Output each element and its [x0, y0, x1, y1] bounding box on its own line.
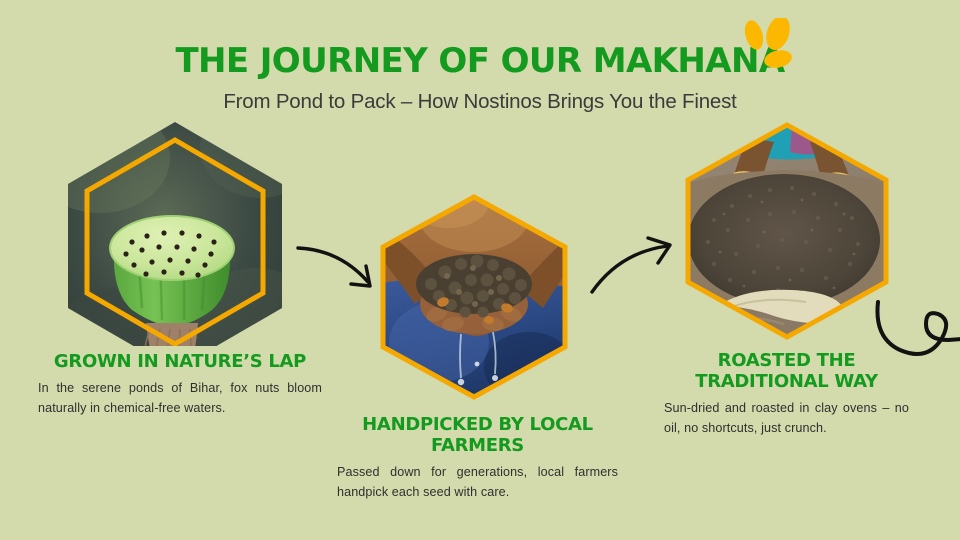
page-title: THE JOURNEY OF OUR MAKHANA — [0, 0, 960, 78]
step-2-caption: HANDPICKED BY LOCAL FARMERS Passed down … — [337, 414, 618, 503]
step-1-caption: GROWN IN NATURE’S LAP In the serene pond… — [38, 351, 322, 419]
step-3-heading: ROASTED THE TRADITIONAL WAY — [664, 350, 909, 392]
step-2-body: Passed down for generations, local farme… — [337, 456, 618, 503]
page-subtitle: From Pond to Pack – How Nostinos Brings … — [0, 78, 960, 113]
step-1-image-hexagon — [60, 118, 290, 346]
step-2-photo — [369, 192, 579, 402]
step-2-image-hexagon — [369, 192, 579, 402]
splash-icon — [736, 18, 804, 78]
infographic-canvas: THE JOURNEY OF OUR MAKHANA From Pond to … — [0, 0, 960, 540]
step-3-photo — [674, 120, 900, 342]
header: THE JOURNEY OF OUR MAKHANA From Pond to … — [0, 0, 960, 113]
step-2-heading: HANDPICKED BY LOCAL FARMERS — [337, 414, 618, 456]
step-1-heading: GROWN IN NATURE’S LAP — [38, 351, 322, 372]
step-3-caption: ROASTED THE TRADITIONAL WAY Sun-dried an… — [664, 350, 909, 439]
step-1-body: In the serene ponds of Bihar, fox nuts b… — [38, 372, 322, 419]
step-3-image-hexagon — [674, 120, 900, 342]
step-1-photo — [60, 118, 290, 346]
step-3-body: Sun-dried and roasted in clay ovens – no… — [664, 392, 909, 439]
arrow-step2-to-step3-icon — [586, 232, 686, 305]
